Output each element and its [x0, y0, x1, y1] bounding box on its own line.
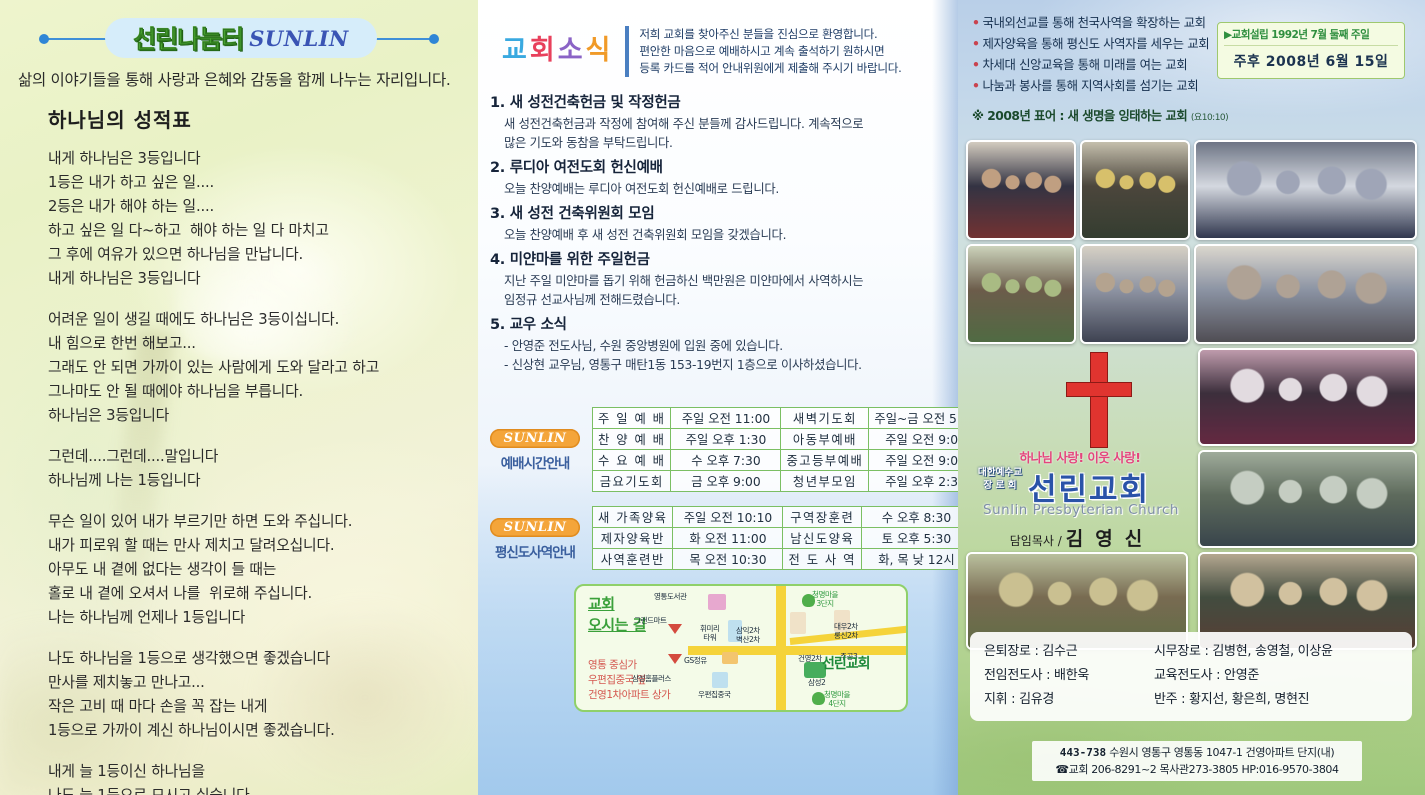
church-name-english: Sunlin Presbyterian Church: [976, 502, 1186, 518]
mission-bullet-icon: •: [972, 57, 980, 72]
photo-content: [1196, 142, 1415, 238]
lay-ministry-schedule-block: SUNLIN 평신도사역안내 새 가족양육주일 오전 10:10구역장훈련수 오…: [486, 506, 958, 570]
poem-line: 나도 늘 1등으로 모시고 싶습니다.: [48, 784, 458, 795]
schedule-time-cell: 화, 목 낮 12시: [861, 549, 958, 570]
staff-entry-left: 은퇴장로 : 김수근: [984, 640, 1154, 664]
announcement-heading: 3. 새 성전 건축위원회 모임: [490, 202, 944, 223]
schedule-time-cell: 주일 오전 10:10: [673, 507, 783, 528]
schedule-time-cell: 주일 오전 9:00: [869, 429, 958, 450]
news-title-char: 회: [530, 28, 556, 67]
poem-line: 하나님께 나는 1등입니다: [48, 469, 458, 493]
cross-vertical: [1090, 352, 1108, 448]
map-building-library: [708, 594, 726, 610]
senior-pastor: 담임목사 / 김영신: [974, 524, 1190, 551]
banner-dot-left-icon: [39, 34, 49, 44]
poem-line: 그래도 안 되면 가까이 있는 사람에게 도와 달라고 하고: [48, 356, 458, 380]
map-arrow-icon-1: [668, 624, 682, 634]
worship-schedule-block: SUNLIN 예배시간안내 주 일 예 배주일 오전 11:00새벽기도회주일~…: [486, 407, 958, 492]
sharing-subtitle: 삶의 이야기들을 통해 사랑과 은혜와 감동을 함께 나누는 자리입니다.: [18, 68, 458, 90]
poem-line: 하나님은 3등입니다: [48, 404, 458, 428]
announcement-body-line: 지난 주일 미얀마를 돕기 위해 헌금하신 백만원은 미얀마에서 사역하시는: [490, 272, 944, 291]
map-building-postoffice: [712, 672, 728, 688]
map-place-label: 건영2차: [798, 654, 822, 663]
news-title-char: 식: [586, 28, 612, 67]
announcement-body-line: - 신상현 교우님, 영통구 매탄1동 153-19번지 1층으로 이사하셨습니…: [490, 356, 944, 375]
mission-statement-list: •국내외선교를 통해 천국사역을 확장하는 교회•제자양육을 통해 평신도 사역…: [958, 0, 1258, 96]
denomination-line: 장 로 회: [972, 479, 1028, 492]
postal-code: 443-738: [1060, 746, 1106, 759]
poem-stanza: 내게 하나님은 3등입니다1등은 내가 하고 싶은 일....2등은 내가 해야…: [48, 147, 458, 291]
banner-brand-english: SUNLIN: [249, 26, 348, 51]
map-place-label: GS정유: [684, 656, 707, 665]
poem-line: 홀로 내 곁에 오셔서 나를 위로해 주십니다.: [48, 582, 458, 606]
map-title: 교회 오시는 길: [588, 594, 646, 636]
announcement-list: 1. 새 성전건축헌금 및 작정헌금새 성전건축헌금과 작정에 참여해 주신 분…: [478, 77, 958, 375]
schedule-name-cell: 청년부모임: [781, 471, 869, 492]
map-building-gs: [722, 652, 738, 664]
map-title-line1: 교회: [588, 594, 646, 615]
photo-choir: [1194, 140, 1417, 240]
mission-bullet-icon: •: [972, 36, 980, 51]
schedule-name-cell: 아동부예배: [781, 429, 869, 450]
announcement-heading: 2. 루디아 여전도회 헌신예배: [490, 156, 944, 177]
map-place-label: 선린교회: [822, 660, 870, 669]
church-news-title: 교회소식: [502, 22, 611, 67]
bulletin-page: 선린나눔터 SUNLIN 삶의 이야기들을 통해 사랑과 은혜와 감동을 함께 …: [0, 0, 1425, 795]
photo-content: [1200, 350, 1415, 444]
map-road-vertical: [776, 586, 786, 712]
poem-line: 아무도 내 곁에 없다는 생각이 들 때는: [48, 558, 458, 582]
pastor-role: 담임목사 /: [1010, 532, 1062, 549]
mission-statement-item: •나눔과 봉사를 통해 지역사회를 섬기는 교회: [972, 75, 1258, 96]
schedule-row: 사역훈련반목 오전 10:30전 도 사 역화, 목 낮 12시: [593, 549, 959, 570]
map-place-label: 삼성홈플러스: [632, 674, 671, 683]
welcome-line: 편안한 마음으로 예배하시고 계속 출석하기 원하시면: [639, 43, 901, 60]
announcement-heading: 4. 미얀마를 위한 주일헌금: [490, 248, 944, 269]
photo-content: [968, 142, 1074, 238]
mission-statement-item: •차세대 신앙교육을 통해 미래를 여는 교회: [972, 54, 1258, 75]
lay-ministry-label: SUNLIN 평신도사역안내: [486, 516, 584, 561]
church-founded-date: ▶교회설립 1992년 7월 둘째 주일: [1224, 27, 1398, 46]
news-title-char: 소: [558, 28, 584, 67]
staff-row: 은퇴장로 : 김수근시무장로 : 김병현, 송영철, 이상윤: [984, 640, 1398, 664]
announcement-item: 5. 교우 소식- 안영준 전도사님, 수원 중앙병원에 입원 중에 있습니다.…: [490, 313, 944, 375]
announcement-heading: 5. 교우 소식: [490, 313, 944, 334]
mission-statement-text: 차세대 신앙교육을 통해 미래를 여는 교회: [983, 57, 1188, 72]
photo-content: [1082, 246, 1188, 342]
map-note-line: 건영1차아파트 상가: [588, 688, 670, 703]
announcement-body-line: 임정규 선교사님께 전해드렸습니다.: [490, 291, 944, 310]
photo-special-music: [1198, 348, 1417, 446]
announcement-item: 4. 미얀마를 위한 주일헌금지난 주일 미얀마를 돕기 위해 헌금하신 백만원…: [490, 248, 944, 310]
poem-line: 내게 하나님은 3등입니다: [48, 267, 458, 291]
poem-title: 하나님의 성적표: [48, 104, 478, 133]
staff-entry-right: 반주 : 황지선, 황은희, 명현진: [1154, 688, 1398, 712]
schedule-name-cell: 남신도양육: [783, 528, 861, 549]
schedule-time-cell: 화 오전 11:00: [673, 528, 783, 549]
map-place-label: 삼성2: [808, 678, 825, 687]
announcement-body-line: 많은 기도와 동참을 부탁드립니다.: [490, 134, 944, 153]
poem-line: 내게 하나님은 3등입니다: [48, 147, 458, 171]
directions-map: 교회 오시는 길 영통 중심가우편집중국 옆건영1차아파트 상가 영통도서관청명…: [574, 584, 908, 712]
poem-line: 어려운 일이 생길 때에도 하나님은 3등이십니다.: [48, 308, 458, 332]
poem-stanza: 어려운 일이 생길 때에도 하나님은 3등이십니다.내 힘으로 한번 해보고..…: [48, 308, 458, 428]
schedule-name-cell: 금요기도회: [593, 471, 671, 492]
map-place-label: 청명마을 4단지: [824, 690, 850, 708]
worship-schedule-label: SUNLIN 예배시간안내: [486, 427, 584, 472]
announcement-body-line: - 안영준 전도사님, 수원 중앙병원에 입원 중에 있습니다.: [490, 337, 944, 356]
announcement-heading: 1. 새 성전건축헌금 및 작정헌금: [490, 91, 944, 112]
photo-content: [1200, 452, 1415, 546]
schedule-name-cell: 구역장훈련: [783, 507, 861, 528]
photo-content: [968, 246, 1074, 342]
worship-schedule-table: 주 일 예 배주일 오전 11:00새벽기도회주일~금 오전 5:00찬 양 예…: [592, 407, 958, 492]
map-note-line: 영통 중심가: [588, 658, 670, 673]
year-slogan-text: ※ 2008년 표어 : 새 생명을 잉태하는 교회: [972, 109, 1187, 123]
cross-horizontal: [1066, 382, 1132, 397]
left-panel-sharing-column: 선린나눔터 SUNLIN 삶의 이야기들을 통해 사랑과 은혜와 감동을 함께 …: [0, 0, 478, 795]
photo-youth-praise-team: [1080, 140, 1190, 240]
announcement-body-line: 오늘 찬양예배는 루디아 여전도회 헌신예배로 드립니다.: [490, 180, 944, 199]
map-place-label: 청명마을 3단지: [812, 590, 838, 608]
poem-line: 나도 하나님을 1등으로 생각했으면 좋겠습니다: [48, 647, 458, 671]
schedule-time-cell: 금 오후 9:00: [671, 471, 781, 492]
mission-statement-text: 제자양육을 통해 평신도 사역자를 세우는 교회: [983, 36, 1210, 51]
mission-statement-text: 나눔과 봉사를 통해 지역사회를 섬기는 교회: [983, 78, 1199, 93]
poem-line: 그런데....그런데....말입니다: [48, 445, 458, 469]
announcement-body-line: 새 성전건축헌금과 작정에 참여해 주신 분들께 감사드립니다. 계속적으로: [490, 115, 944, 134]
schedule-time-cell: 토 오후 5:30: [861, 528, 958, 549]
schedule-time-cell: 주일 오전 9:00: [869, 450, 958, 471]
pastor-name: 김영신: [1066, 524, 1154, 551]
schedule-name-cell: 중고등부예배: [781, 450, 869, 471]
bulletin-date: 주후 2008년 6월 15일: [1224, 51, 1398, 71]
schedule-name-cell: 전 도 사 역: [783, 549, 861, 570]
address-line-1: 443-738 수원시 영통구 영통동 1047-1 건영아파트 단지(내): [1040, 744, 1354, 761]
poem-line: 나는 하나님께 언제나 1등입니다: [48, 606, 458, 630]
worship-schedule-label-text: 예배시간안내: [486, 452, 584, 472]
poem-line: 내 힘으로 한번 해보고...: [48, 332, 458, 356]
address-line-2: ☎교회 206-8291~2 목사관273-3805 HP:016-9570-3…: [1040, 761, 1354, 778]
staff-row: 지휘 : 김유경반주 : 황지선, 황은희, 명현진: [984, 688, 1398, 712]
map-place-label: 휘미리 타워: [700, 624, 719, 642]
map-arrow-icon-2: [668, 654, 682, 664]
announcement-body-line: 오늘 찬양예배 후 새 성전 건축위원회 모임을 갖겠습니다.: [490, 226, 944, 245]
sunlin-badge-worship: SUNLIN: [490, 429, 581, 448]
lay-ministry-schedule-table: 새 가족양육주일 오전 10:10구역장훈련수 오후 8:30제자양육반화 오전…: [592, 506, 958, 570]
welcome-message: 저희 교회를 찾아주신 분들을 진심으로 환영합니다.편안한 마음으로 예배하시…: [625, 26, 901, 77]
schedule-time-cell: 주일 오후 1:30: [671, 429, 781, 450]
photo-content: [1082, 142, 1188, 238]
poem-line: 하고 싶은 일 다~하고 해야 하는 일 다 마치고: [48, 219, 458, 243]
sunlin-sharing-banner: 선린나눔터 SUNLIN: [39, 18, 439, 58]
schedule-time-cell: 수 오후 8:30: [861, 507, 958, 528]
poem-line: 1등으로 가까이 계신 하나님이시면 좋겠습니다.: [48, 719, 458, 743]
address-street: 수원시 영통구 영통동 1047-1 건영아파트 단지(내): [1109, 746, 1334, 759]
date-box: ▶교회설립 1992년 7월 둘째 주일 주후 2008년 6월 15일: [1217, 22, 1405, 79]
schedule-row: 제자양육반화 오전 11:00남신도양육토 오후 5:30: [593, 528, 959, 549]
map-place-label: 삼익2차 벽산2차: [736, 626, 760, 644]
welcome-line: 등록 카드를 적어 안내위원에게 제출해 주시기 바랍니다.: [639, 60, 901, 77]
church-address-block: 443-738 수원시 영통구 영통동 1047-1 건영아파트 단지(내) ☎…: [1032, 741, 1362, 781]
schedule-name-cell: 제자양육반: [593, 528, 673, 549]
schedule-time-cell: 목 오전 10:30: [673, 549, 783, 570]
poem-stanza: 나도 하나님을 1등으로 생각했으면 좋겠습니다만사를 제치놓고 만나고...작…: [48, 647, 458, 743]
announcement-item: 2. 루디아 여전도회 헌신예배오늘 찬양예배는 루디아 여전도회 헌신예배로 …: [490, 156, 944, 199]
schedule-time-cell: 수 오후 7:30: [671, 450, 781, 471]
schedule-name-cell: 새 가족양육: [593, 507, 673, 528]
staff-entry-right: 시무장로 : 김병현, 송영철, 이상윤: [1154, 640, 1398, 664]
photo-family-dedication: [966, 140, 1076, 240]
banner-dot-right-icon: [429, 34, 439, 44]
mission-statement-text: 국내외선교를 통해 천국사역을 확장하는 교회: [983, 15, 1206, 30]
schedule-time-cell: 주일 오전 11:00: [671, 408, 781, 429]
schedule-row: 새 가족양육주일 오전 10:10구역장훈련수 오후 8:30: [593, 507, 959, 528]
denomination-name: 대한예수교장 로 회: [972, 466, 1028, 492]
schedule-name-cell: 수 요 예 배: [593, 450, 671, 471]
mission-statement-item: •국내외선교를 통해 천국사역을 확장하는 교회: [972, 12, 1258, 33]
right-panel-church-column: •국내외선교를 통해 천국사역을 확장하는 교회•제자양육을 통해 평신도 사역…: [958, 0, 1425, 795]
photo-robed-singers: [1198, 450, 1417, 548]
map-place-label: 대우2차 롱신2차: [834, 622, 858, 640]
photo-congregation: [1194, 244, 1417, 344]
banner-pill: 선린나눔터 SUNLIN: [105, 18, 377, 58]
mission-bullet-icon: •: [972, 78, 980, 93]
cross-icon: [1066, 352, 1132, 448]
staff-entry-right: 교육전도사 : 안영준: [1154, 664, 1398, 688]
staff-entry-left: 지휘 : 김유경: [984, 688, 1154, 712]
middle-panel-news-column: 교회소식 저희 교회를 찾아주신 분들을 진심으로 환영합니다.편안한 마음으로…: [478, 0, 958, 795]
church-news-header: 교회소식 저희 교회를 찾아주신 분들을 진심으로 환영합니다.편안한 마음으로…: [478, 0, 958, 77]
news-title-char: 교: [502, 28, 528, 67]
denomination-line: 대한예수교: [972, 466, 1028, 479]
poem-line: 무슨 일이 있어 내가 부르기만 하면 도와 주십니다.: [48, 510, 458, 534]
schedule-name-cell: 사역훈련반: [593, 549, 673, 570]
map-place-label: 우편집중국: [698, 690, 730, 699]
poem-stanza: 내게 늘 1등이신 하나님을나도 늘 1등으로 모시고 싶습니다.: [48, 760, 458, 795]
mission-bullet-icon: •: [972, 15, 980, 30]
map-place-label: 영통도서관: [654, 592, 686, 601]
staff-entry-left: 전임전도사 : 배한욱: [984, 664, 1154, 688]
poem-line: 그나마도 안 될 때에야 하나님을 부릅니다.: [48, 380, 458, 404]
staff-directory: 은퇴장로 : 김수근시무장로 : 김병현, 송영철, 이상윤전임전도사 : 배한…: [970, 632, 1412, 721]
church-logo-block: 하나님 사랑! 이웃 사랑! 대한예수교장 로 회 선린교회 Sunlin Pr…: [966, 352, 1190, 542]
announcement-item: 3. 새 성전 건축위원회 모임오늘 찬양예배 후 새 성전 건축위원회 모임을…: [490, 202, 944, 245]
photo-group-steps: [1080, 244, 1190, 344]
schedule-time-cell: 주일 오후 2:30: [869, 471, 958, 492]
poem-stanza: 그런데....그런데....말입니다하나님께 나는 1등입니다: [48, 445, 458, 493]
schedule-name-cell: 찬 양 예 배: [593, 429, 671, 450]
schedule-name-cell: 주 일 예 배: [593, 408, 671, 429]
map-building-samik: [790, 612, 806, 634]
poem-line: 내게 늘 1등이신 하나님을: [48, 760, 458, 784]
banner-brand-korean: 선린나눔터: [133, 20, 243, 56]
lay-ministry-label-text: 평신도사역안내: [486, 541, 584, 561]
map-place-label: 그랜드마트: [634, 616, 666, 625]
photo-content: [1196, 246, 1415, 342]
schedule-name-cell: 새벽기도회: [781, 408, 869, 429]
schedule-time-cell: 주일~금 오전 5:00: [869, 408, 958, 429]
poem-line: 2등은 내가 해야 하는 일....: [48, 195, 458, 219]
schedule-row: 금요기도회금 오후 9:00청년부모임주일 오후 2:30: [593, 471, 959, 492]
poem-line: 그 후에 여유가 있으면 하나님을 만납니다.: [48, 243, 458, 267]
announcement-item: 1. 새 성전건축헌금 및 작정헌금새 성전건축헌금과 작정에 참여해 주신 분…: [490, 91, 944, 153]
poem-line: 작은 고비 때 마다 손을 꼭 잡는 내게: [48, 695, 458, 719]
poem-line: 1등은 내가 하고 싶은 일....: [48, 171, 458, 195]
schedule-row: 수 요 예 배수 오후 7:30중고등부예배주일 오전 9:00: [593, 450, 959, 471]
poem-stanza: 무슨 일이 있어 내가 부르기만 하면 도와 주십니다.내가 피로워 할 때는 …: [48, 510, 458, 630]
welcome-line: 저희 교회를 찾아주신 분들을 진심으로 환영합니다.: [639, 26, 901, 43]
poem-body: 내게 하나님은 3등입니다1등은 내가 하고 싶은 일....2등은 내가 해야…: [48, 147, 458, 795]
mission-statement-item: •제자양육을 통해 평신도 사역자를 세우는 교회: [972, 33, 1258, 54]
poem-line: 내가 피로워 할 때는 만사 제치고 달려오십니다.: [48, 534, 458, 558]
year-slogan-reference: (요10:10): [1191, 113, 1228, 123]
year-slogan: ※ 2008년 표어 : 새 생명을 잉태하는 교회 (요10:10): [972, 106, 1302, 124]
sunlin-badge-ministry: SUNLIN: [490, 518, 581, 537]
schedule-row: 주 일 예 배주일 오전 11:00새벽기도회주일~금 오전 5:00: [593, 408, 959, 429]
schedule-row: 찬 양 예 배주일 오후 1:30아동부예배주일 오전 9:00: [593, 429, 959, 450]
photo-outdoor-service: [966, 244, 1076, 344]
poem-line: 만사를 제치놓고 만나고...: [48, 671, 458, 695]
staff-row: 전임전도사 : 배한욱교육전도사 : 안영준: [984, 664, 1398, 688]
